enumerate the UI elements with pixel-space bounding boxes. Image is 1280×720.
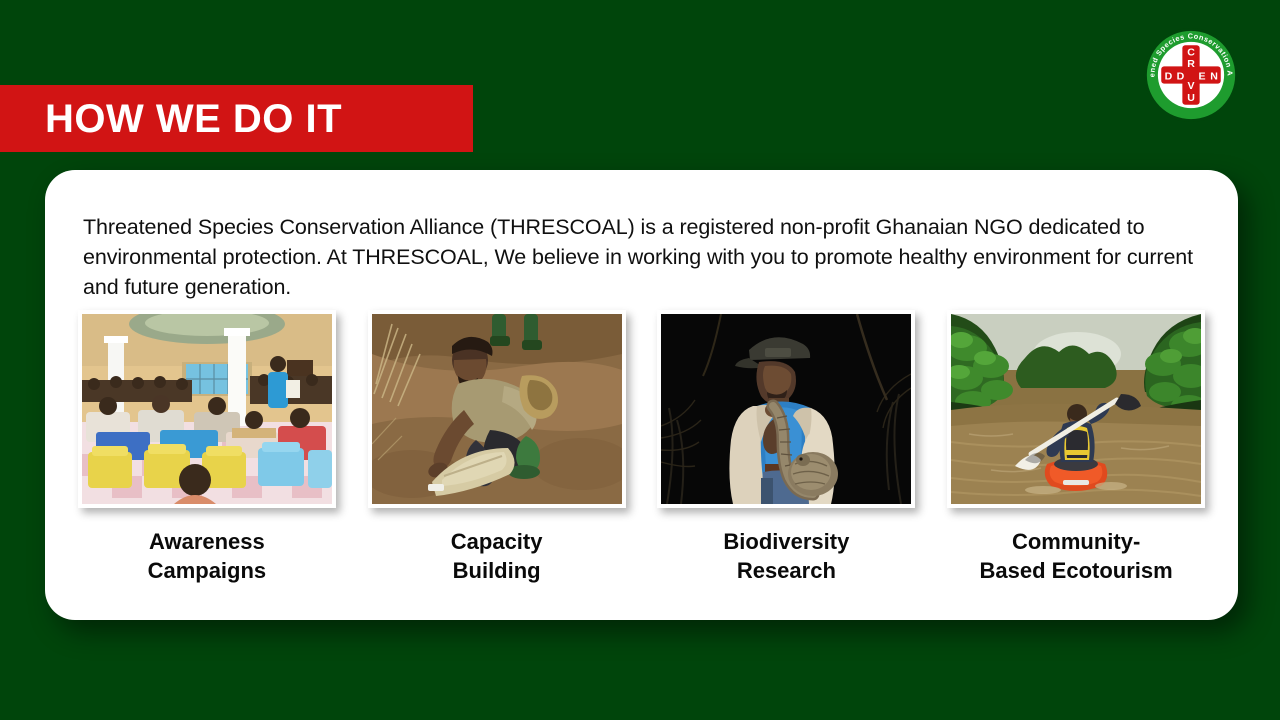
feature-caption: Biodiversity Research	[723, 527, 849, 585]
photo-awareness-campaigns	[82, 314, 332, 504]
svg-text:N: N	[1210, 70, 1218, 82]
svg-text:U: U	[1187, 92, 1195, 104]
feature-card-biodiversity-research[interactable]: Biodiversity Research	[645, 310, 929, 585]
svg-text:V: V	[1187, 80, 1194, 92]
photo-capacity-building	[372, 314, 622, 504]
svg-text:R: R	[1187, 58, 1195, 70]
slide-root: HOW WE DO IT Threatened Species Conserva…	[0, 0, 1280, 720]
photo-frame	[78, 310, 336, 508]
svg-text:D: D	[1177, 70, 1185, 82]
feature-caption: Community- Based Ecotourism	[980, 527, 1173, 585]
feature-cards-row: Awareness Campaigns	[65, 310, 1218, 585]
threscoal-logo: Threatened Species Conservation Alliance…	[1143, 27, 1239, 123]
photo-frame	[947, 310, 1205, 508]
svg-text:C: C	[1187, 46, 1195, 58]
feature-caption: Capacity Building	[451, 527, 543, 585]
feature-card-capacity-building[interactable]: Capacity Building	[355, 310, 639, 585]
feature-card-community-based-ecotourism[interactable]: Community- Based Ecotourism	[934, 310, 1218, 585]
content-card: Threatened Species Conservation Alliance…	[45, 170, 1238, 620]
photo-frame	[657, 310, 915, 508]
intro-paragraph: Threatened Species Conservation Alliance…	[83, 212, 1203, 302]
feature-card-awareness-campaigns[interactable]: Awareness Campaigns	[65, 310, 349, 585]
photo-biodiversity-research	[661, 314, 911, 504]
photo-frame	[368, 310, 626, 508]
svg-text:D: D	[1165, 70, 1173, 82]
photo-community-based-ecotourism	[951, 314, 1201, 504]
page-title: HOW WE DO IT	[0, 99, 342, 139]
feature-caption: Awareness Campaigns	[148, 527, 267, 585]
title-banner: HOW WE DO IT	[0, 85, 473, 152]
svg-text:E: E	[1199, 70, 1206, 82]
